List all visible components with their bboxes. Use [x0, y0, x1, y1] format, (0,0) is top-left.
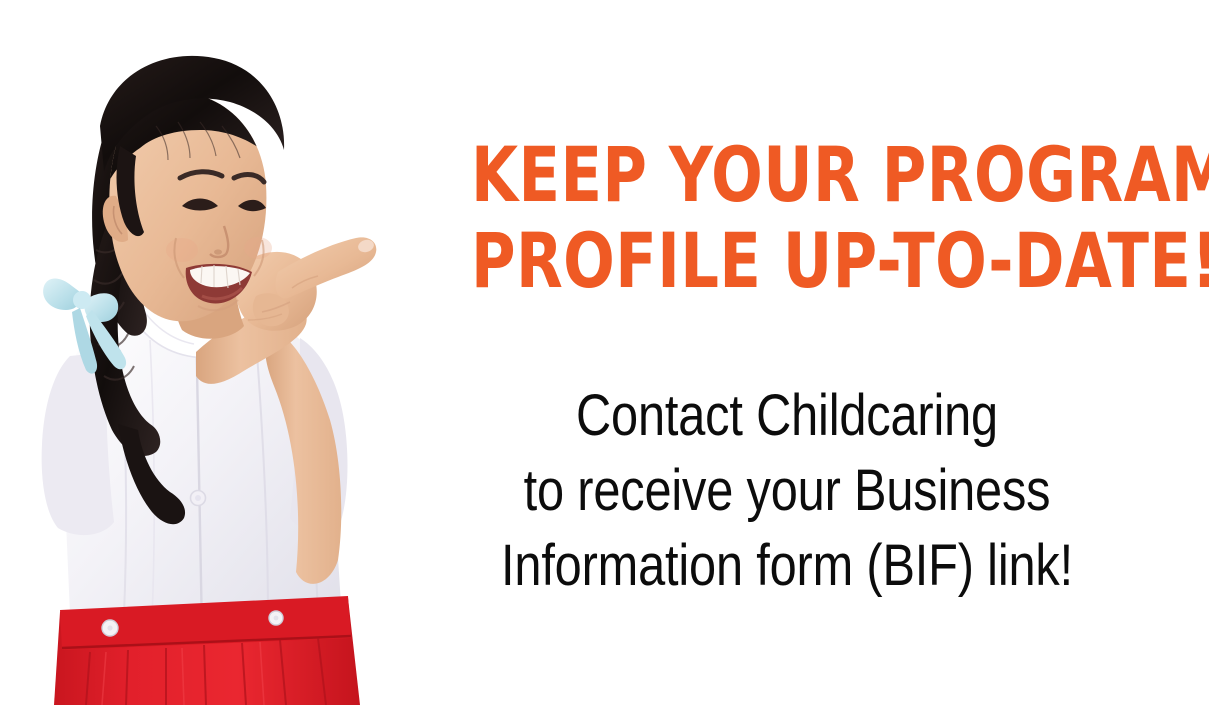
subcopy: Contact Childcaring to receive your Busi… [455, 378, 1119, 603]
red-skirt [54, 596, 360, 705]
subcopy-line-1: Contact Childcaring [455, 378, 1119, 453]
text-column: KEEP YOUR PROGRAM PROFILE UP-TO-DATE! Co… [392, 0, 1182, 705]
girl-photo [0, 0, 400, 705]
subcopy-line-2: to receive your Business [455, 453, 1119, 528]
subcopy-line-3: Information form (BIF) link! [455, 528, 1119, 603]
headline: KEEP YOUR PROGRAM PROFILE UP-TO-DATE! [471, 132, 1103, 304]
headline-line-2: PROFILE UP-TO-DATE! [471, 218, 1103, 304]
headline-line-1: KEEP YOUR PROGRAM [471, 132, 1103, 218]
promo-banner: KEEP YOUR PROGRAM PROFILE UP-TO-DATE! Co… [0, 0, 1209, 705]
